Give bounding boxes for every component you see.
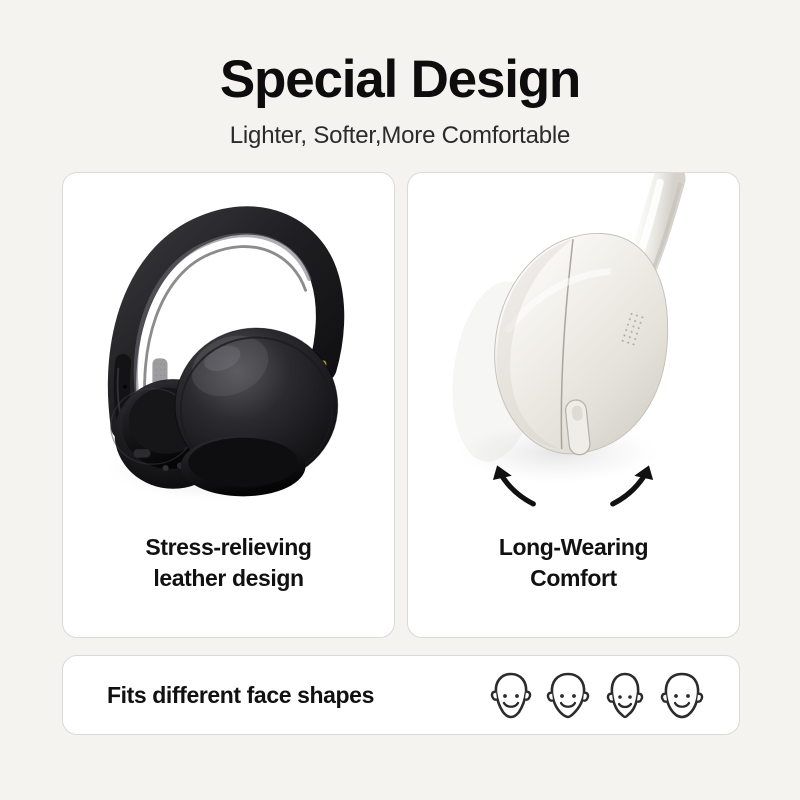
fits-face-shapes-label: Fits different face shapes [107, 682, 374, 709]
caption-line-2: Comfort [408, 563, 739, 593]
face-icon-1 [488, 670, 534, 720]
fits-face-shapes-bar[interactable]: Fits different face shapes [62, 655, 740, 735]
face-icon-2 [545, 670, 591, 720]
feature-card-caption: Stress-relieving leather design [63, 532, 394, 637]
page-title: Special Design [0, 52, 800, 108]
face-icon-4 [659, 670, 705, 720]
feature-card-stress-relieving[interactable]: Stress-relieving leather design [62, 172, 395, 638]
feature-cards-row: Stress-relieving leather design [62, 172, 740, 638]
white-headphone-image [408, 173, 739, 532]
feature-card-caption: Long-Wearing Comfort [408, 532, 739, 637]
caption-line-1: Stress-relieving [145, 534, 311, 560]
white-headphone-illustration [408, 173, 739, 532]
caption-line-2: leather design [63, 563, 394, 593]
feature-card-long-wearing[interactable]: Long-Wearing Comfort [407, 172, 740, 638]
face-shape-icons [488, 670, 705, 720]
black-headphones-image [63, 173, 394, 532]
page-header: Special Design Lighter, Softer,More Comf… [0, 0, 800, 150]
caption-line-1: Long-Wearing [499, 534, 648, 560]
black-headphones-illustration [63, 173, 394, 532]
product-feature-page: Special Design Lighter, Softer,More Comf… [0, 0, 800, 800]
face-icon-3 [602, 670, 648, 720]
page-subtitle: Lighter, Softer,More Comfortable [0, 122, 800, 150]
